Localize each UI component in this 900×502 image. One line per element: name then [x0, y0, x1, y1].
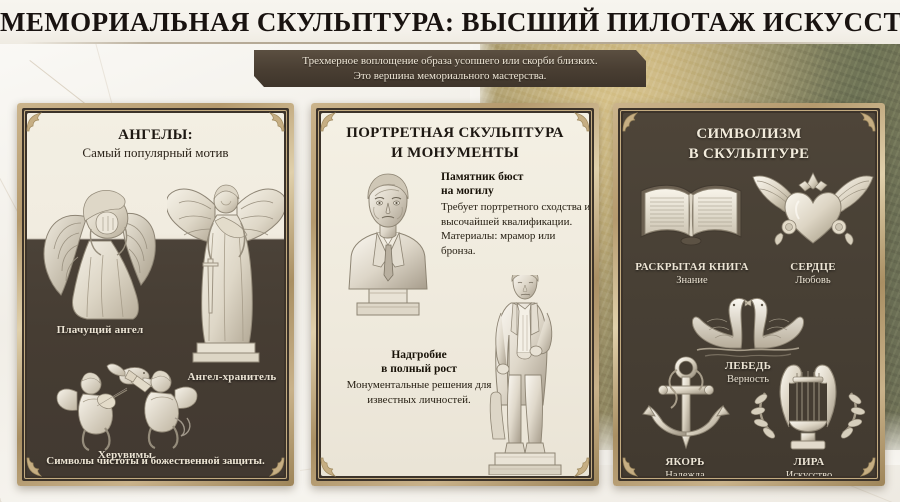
panel-symbolism-title-line-2: В СКУЛЬПТУРЕ: [623, 144, 875, 164]
cherubs-figure: [55, 356, 201, 451]
bust-text-block: Памятник бюст на могилу Требует портретн…: [441, 170, 589, 258]
page-title: МЕМОРИАЛЬНАЯ СКУЛЬПТУРА: ВЫСШИЙ ПИЛОТАЖ …: [0, 7, 900, 38]
panel-angels[interactable]: АНГЕЛЫ: Самый популярный мотив: [17, 103, 294, 486]
bust-heading-line-1: Памятник бюст: [441, 170, 589, 184]
symbol-label-lyre: ЛИРА Искусство: [753, 456, 865, 476]
symbol-meaning-heart: Любовь: [753, 274, 873, 287]
banner-line-1: Трехмерное воплощение образа усопшего ил…: [302, 54, 597, 69]
panel-symbolism[interactable]: СИМВОЛИЗМ В СКУЛЬПТУРЕ: [613, 103, 885, 486]
symbol-label-book: РАСКРЫТАЯ КНИГА Знание: [627, 261, 757, 287]
tombstone-body-text: Монументальные решения для известных лич…: [329, 378, 509, 407]
subtitle-banner: Трехмерное воплощение образа усопшего ил…: [254, 50, 646, 87]
guardian-angel-figure: [167, 161, 284, 366]
symbol-label-heart: СЕРДЦЕ Любовь: [753, 261, 873, 287]
full-height-text-block: Надгробие в полный рост Монументальные р…: [329, 348, 509, 407]
panel-angels-body: АНГЕЛЫ: Самый популярный мотив: [27, 113, 284, 476]
bust-sculpture-figure: [335, 171, 441, 316]
panel-portrait-title-line-1: ПОРТРЕТНАЯ СКУЛЬПТУРА: [321, 123, 589, 143]
panel-angels-subtitle: Самый популярный мотив: [27, 145, 284, 161]
anchor-icon: [637, 356, 735, 454]
infographic-stage: МЕМОРИАЛЬНАЯ СКУЛЬПТУРА: ВЫСШИЙ ПИЛОТАЖ …: [0, 0, 900, 502]
banner-line-2: Это вершина мемориального мастерства.: [302, 69, 597, 84]
panel-portrait-body: ПОРТРЕТНАЯ СКУЛЬПТУРА И МОНУМЕНТЫ: [321, 113, 589, 476]
symbol-name-book: РАСКРЫТАЯ КНИГА: [627, 261, 757, 274]
symbol-label-anchor: ЯКОРЬ Надежда: [629, 456, 741, 476]
caption-weeping-angel: Плачущий ангел: [35, 324, 165, 337]
weeping-angel-figure: [41, 171, 159, 321]
bust-body-text: Требует портретного сходства и высочайше…: [441, 200, 589, 258]
subtitle-banner-text: Трехмерное воплощение образа усопшего ил…: [288, 54, 611, 84]
panel-angels-title: АНГЕЛЫ:: [27, 125, 284, 145]
panel-symbolism-body: СИМВОЛИЗМ В СКУЛЬПТУРЕ: [623, 113, 875, 476]
tombstone-heading-line-1: Надгробие: [329, 348, 509, 362]
panel-angels-footer: Символы чистоты и божественной защиты.: [27, 455, 284, 467]
symbol-meaning-book: Знание: [627, 274, 757, 287]
open-book-icon: [637, 175, 747, 253]
panel-portrait-title: ПОРТРЕТНАЯ СКУЛЬПТУРА И МОНУМЕНТЫ: [321, 123, 589, 163]
symbol-name-anchor: ЯКОРЬ: [629, 456, 741, 469]
winged-heart-icon: [751, 165, 875, 255]
title-divider: [22, 42, 878, 44]
panel-symbolism-title-line-1: СИМВОЛИЗМ: [623, 124, 875, 144]
symbol-meaning-lyre: Искусство: [753, 469, 865, 476]
lyre-icon: [749, 347, 867, 453]
symbol-name-heart: СЕРДЦЕ: [753, 261, 873, 274]
panel-portrait-title-line-2: И МОНУМЕНТЫ: [321, 143, 589, 163]
symbol-name-lyre: ЛИРА: [753, 456, 865, 469]
symbol-meaning-anchor: Надежда: [629, 469, 741, 476]
panel-portrait[interactable]: ПОРТРЕТНАЯ СКУЛЬПТУРА И МОНУМЕНТЫ: [311, 103, 599, 486]
tombstone-heading-line-2: в полный рост: [329, 362, 509, 376]
bust-heading-line-2: на могилу: [441, 184, 589, 198]
panel-symbolism-title: СИМВОЛИЗМ В СКУЛЬПТУРЕ: [623, 124, 875, 164]
